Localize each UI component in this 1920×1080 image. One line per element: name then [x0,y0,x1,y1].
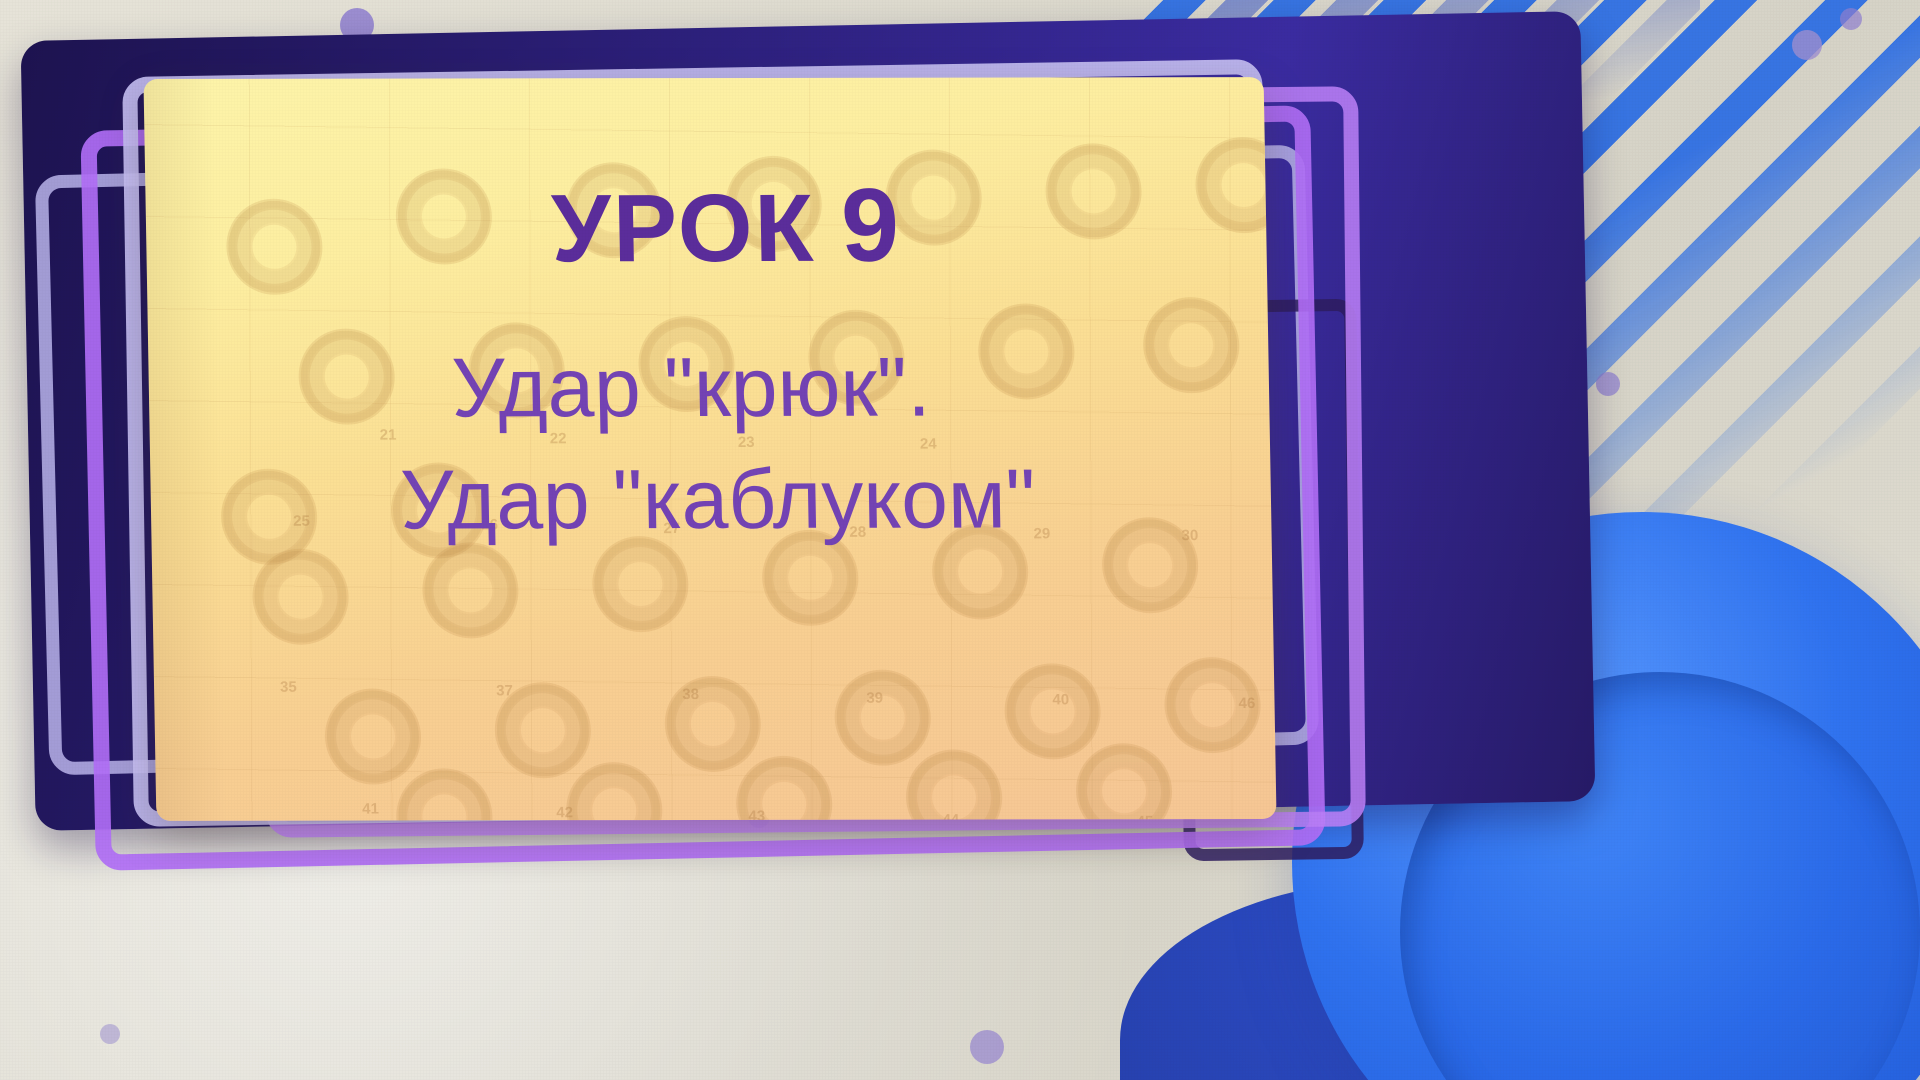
decorative-dot [1792,30,1822,60]
subtitle-line-1: Удар "крюк". [451,336,932,439]
lesson-text-block: УРОК9 Удар "крюк". Удар "каблуком" [143,77,1276,821]
slide-stage: 2122232425262728293035373839404641424344… [0,0,1920,1080]
lesson-title-word: УРОК [550,175,816,282]
lesson-number: 9 [840,168,902,284]
lesson-card: 2122232425262728293035373839404641424344… [143,77,1276,821]
decorative-dot [1596,372,1620,396]
decorative-dot [1840,8,1862,30]
subtitle-line-2: Удар "каблуком" [399,448,1036,552]
decorative-dot [970,1030,1004,1064]
page-title: УРОК9 [550,174,901,279]
decorative-dot [100,1024,120,1044]
